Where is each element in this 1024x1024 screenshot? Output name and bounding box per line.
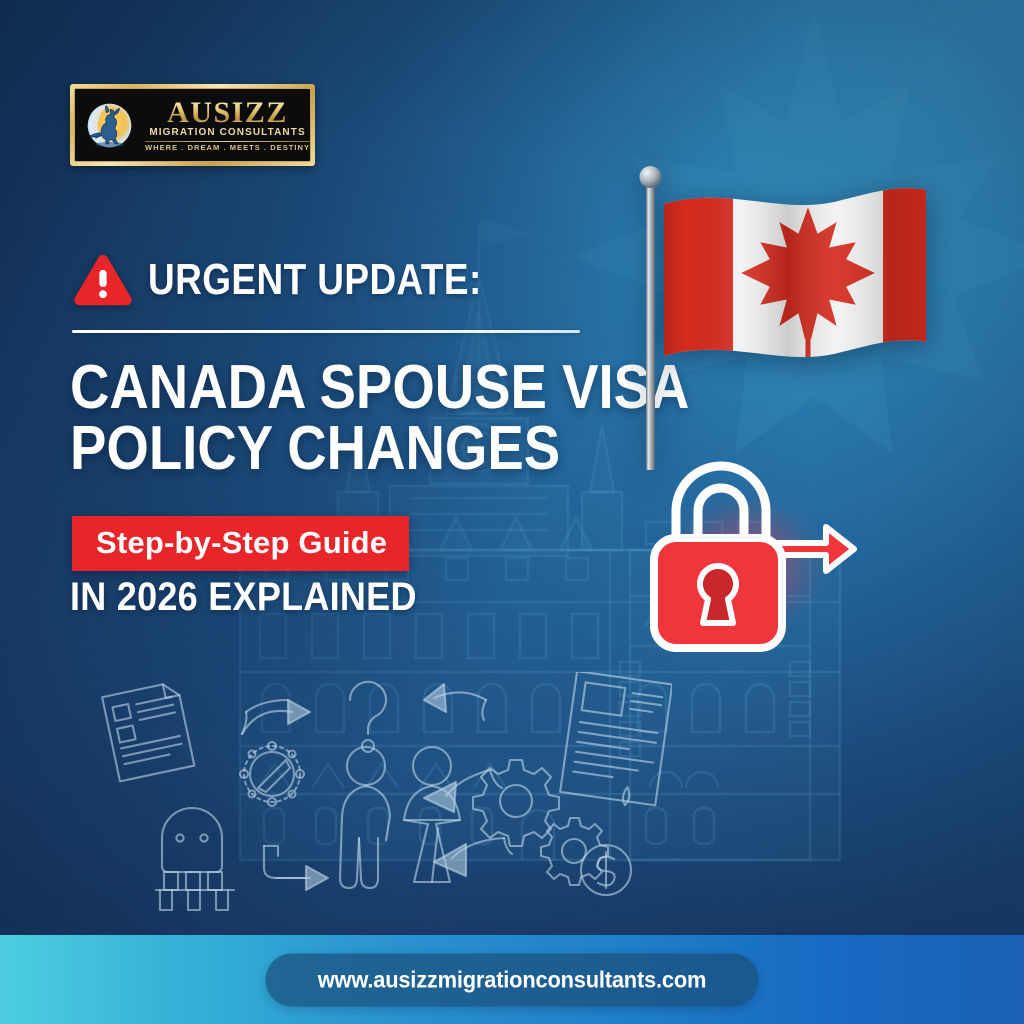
kicker-text: URGENT UPDATE:: [148, 258, 482, 302]
curved-arrow-right-lower-icon: [264, 846, 328, 890]
poster-canvas: AUSIZZ MIGRATION CONSULTANTS WHERE . DRE…: [0, 0, 1024, 1024]
kangaroo-icon: [81, 97, 138, 154]
footer-bar: www.ausizzmigrationconsultants.com: [0, 935, 1024, 1024]
globe-compass-icon: [240, 742, 304, 806]
website-url-pill[interactable]: www.ausizzmigrationconsultants.com: [266, 953, 759, 1006]
flag-body: [650, 170, 930, 380]
curved-arrow-left-3-icon: [434, 838, 512, 876]
logo-inner: AUSIZZ MIGRATION CONSULTANTS WHERE . DRE…: [74, 88, 311, 162]
padlock-unlock-arrow-icon: [628, 448, 864, 670]
brand-logo[interactable]: AUSIZZ MIGRATION CONSULTANTS WHERE . DRE…: [70, 84, 315, 166]
headline-divider: [72, 330, 580, 333]
step-guide-badge: Step-by-Step Guide: [72, 516, 409, 571]
logo-divider: [145, 141, 310, 142]
logo-wordmark: AUSIZZ MIGRATION CONSULTANTS WHERE . DRE…: [145, 99, 310, 152]
kicker-row: URGENT UPDATE:: [72, 252, 545, 307]
curved-arrow-left-2-icon: [424, 770, 502, 812]
logo-tagline: WHERE . DREAM . MEETS . DESTINY: [145, 144, 310, 152]
luggage-icon: [156, 808, 234, 910]
website-url: www.ausizzmigrationconsultants.com: [318, 968, 707, 991]
line-art-doodles: [92, 672, 672, 918]
canadian-flag-icon: [630, 160, 930, 470]
page-title: CANADA SPOUSE VISA POLICY CHANGES: [70, 358, 710, 480]
title-line-1: CANADA SPOUSE VISA: [70, 358, 633, 419]
curved-arrow-right-icon: [242, 700, 310, 734]
explained-text: IN 2026 EXPLAINED: [70, 577, 417, 617]
question-mark-icon: [350, 682, 386, 752]
logo-name: AUSIZZ: [167, 99, 288, 128]
logo-subtitle: MIGRATION CONSULTANTS: [149, 128, 305, 138]
document-lines-icon: [102, 681, 194, 781]
warning-triangle-icon: [72, 252, 134, 307]
dollar-coin-icon: [581, 845, 631, 895]
curved-arrow-left-icon: [424, 684, 486, 720]
title-line-2: POLICY CHANGES: [70, 419, 633, 480]
couple-figures-icon: [340, 747, 460, 888]
certificate-document-icon: [560, 672, 672, 809]
